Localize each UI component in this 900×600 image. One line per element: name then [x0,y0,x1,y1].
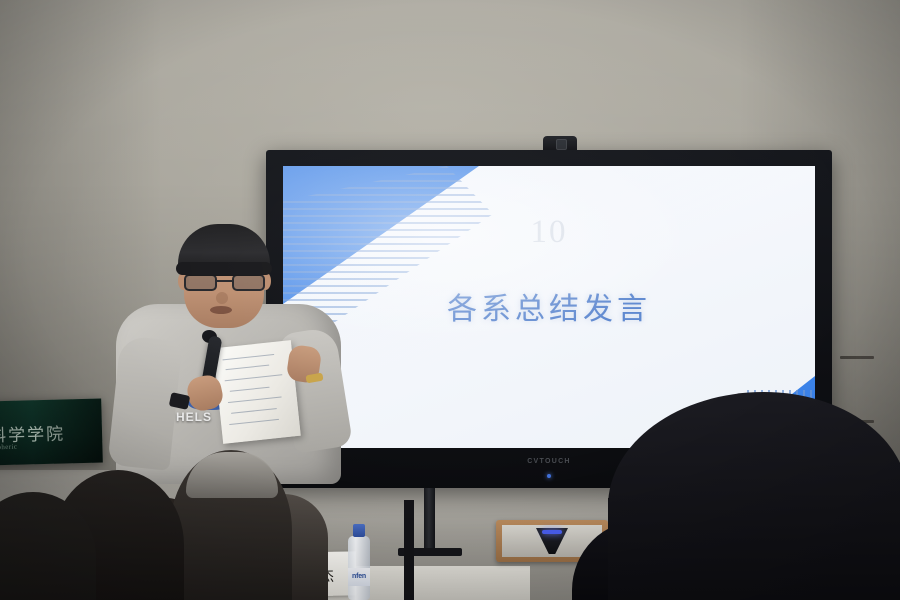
handwriting-line [225,374,283,381]
glasses-icon [182,274,268,291]
glasses-lens-left [184,274,217,291]
banner-shading [0,398,103,465]
handwriting-line [229,419,279,425]
presenter: HELS [110,218,360,478]
wall-mark [840,356,874,359]
presenter-mouth [210,306,232,314]
presenter-nose [216,292,228,304]
device-led-icon [542,530,562,534]
camera-lens-icon [556,139,567,150]
handwriting-line [225,365,269,371]
handwriting-line [231,408,277,414]
slide-number: 10 [283,214,815,251]
display-stand [424,488,435,552]
presentation-photo: 气科学学院 of Atmospheric 10 各系总结发言 CVTOUCH [0,0,900,600]
paper-notes [213,340,301,444]
handwriting-line [230,387,270,392]
handwriting-line [228,396,282,403]
glasses-lens-right [232,274,265,291]
bottle-label: nfen [348,568,370,586]
power-led-icon [547,474,551,478]
bottle-cap [353,524,365,537]
handwriting-line [222,354,274,360]
dark-panel [404,500,414,600]
slide-title: 各系总结发言 [283,284,815,328]
water-bottle: nfen [346,524,372,600]
beanie-brim [176,262,272,275]
department-banner: 气科学学院 of Atmospheric [0,398,103,465]
glasses-bridge [217,280,232,282]
